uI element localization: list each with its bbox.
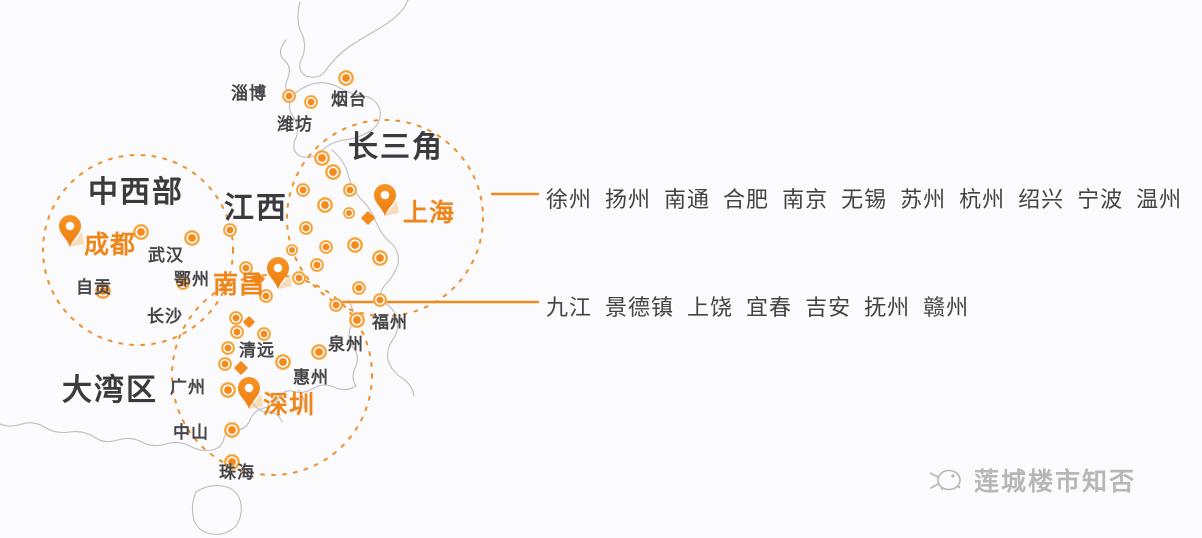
city-dot [338, 70, 354, 86]
map-pin [59, 215, 84, 247]
city-dot [352, 281, 366, 295]
city-dot [317, 197, 333, 213]
callout-city: 无锡 [841, 188, 887, 213]
city-dot [292, 271, 306, 285]
city-dot [372, 250, 388, 266]
callout-city: 上饶 [687, 296, 733, 321]
map-infographic: 中西部 江西 长三角 大湾区 成都 南昌 上海 深圳 淄博 烟台 潍坊 武汉 鄂… [0, 0, 1202, 538]
city-dot [133, 224, 149, 240]
callout-city: 徐州 [546, 188, 592, 213]
callout-city: 宜春 [746, 296, 792, 321]
city-dot [259, 289, 273, 303]
city-dot [220, 382, 236, 398]
map-pin [267, 257, 292, 289]
city-dot [95, 283, 111, 299]
city-dot [347, 237, 363, 253]
callout-city: 九江 [546, 296, 592, 321]
city-dot [311, 344, 327, 360]
callout-city: 温州 [1136, 188, 1182, 213]
map-pin [374, 184, 399, 216]
city-dot [251, 272, 265, 286]
map-pin [238, 377, 263, 409]
callout-city: 赣州 [923, 296, 969, 321]
city-dot [310, 258, 324, 272]
callout-city: 绍兴 [1018, 188, 1064, 213]
callout-city: 南京 [782, 188, 828, 213]
city-dot [373, 293, 387, 307]
city-dot [349, 312, 365, 328]
city-dot [224, 422, 240, 438]
city-dot [343, 183, 357, 197]
bird-logo-icon [930, 465, 964, 495]
city-dot [234, 361, 248, 375]
city-dot [230, 325, 244, 339]
city-dot [223, 223, 237, 237]
city-dot [319, 240, 333, 254]
city-dot [314, 150, 330, 166]
city-dot [229, 311, 243, 325]
watermark: 莲城楼市知否 [930, 462, 1136, 498]
city-dot [282, 89, 296, 103]
city-dot [275, 354, 291, 370]
city-dot [221, 341, 235, 355]
callout-city: 扬州 [605, 188, 651, 213]
city-dot [239, 261, 253, 275]
city-dot [224, 454, 240, 470]
city-dot [304, 95, 318, 109]
callout-city: 抚州 [864, 296, 910, 321]
city-dot [176, 276, 190, 290]
city-dot [218, 357, 232, 371]
callout-city: 景德镇 [605, 296, 674, 321]
callout-city: 合肥 [723, 188, 769, 213]
callout-list-changsanjiao: 徐州扬州南通合肥南京无锡苏州杭州绍兴宁波温州 [546, 182, 1182, 214]
callout-list-jiangxi: 九江景德镇上饶宜春吉安抚州赣州 [546, 290, 969, 322]
city-dot [299, 221, 313, 235]
city-dot [325, 164, 341, 180]
callout-city: 杭州 [959, 188, 1005, 213]
region-circle-changsanjiao [287, 120, 483, 316]
city-dot [343, 207, 355, 219]
city-dot [257, 327, 271, 341]
city-dot [286, 244, 298, 256]
callout-city: 吉安 [805, 296, 851, 321]
callout-city: 宁波 [1077, 188, 1123, 213]
city-dot [243, 316, 255, 328]
city-dot [329, 298, 343, 312]
city-dot [184, 230, 200, 246]
callout-city: 苏州 [900, 188, 946, 213]
city-dot [296, 183, 310, 197]
region-circle-zhongxibu [43, 155, 233, 345]
watermark-text: 莲城楼市知否 [974, 462, 1136, 498]
map-canvas [0, 0, 1202, 538]
city-dot [361, 211, 375, 225]
callout-city: 南通 [664, 188, 710, 213]
